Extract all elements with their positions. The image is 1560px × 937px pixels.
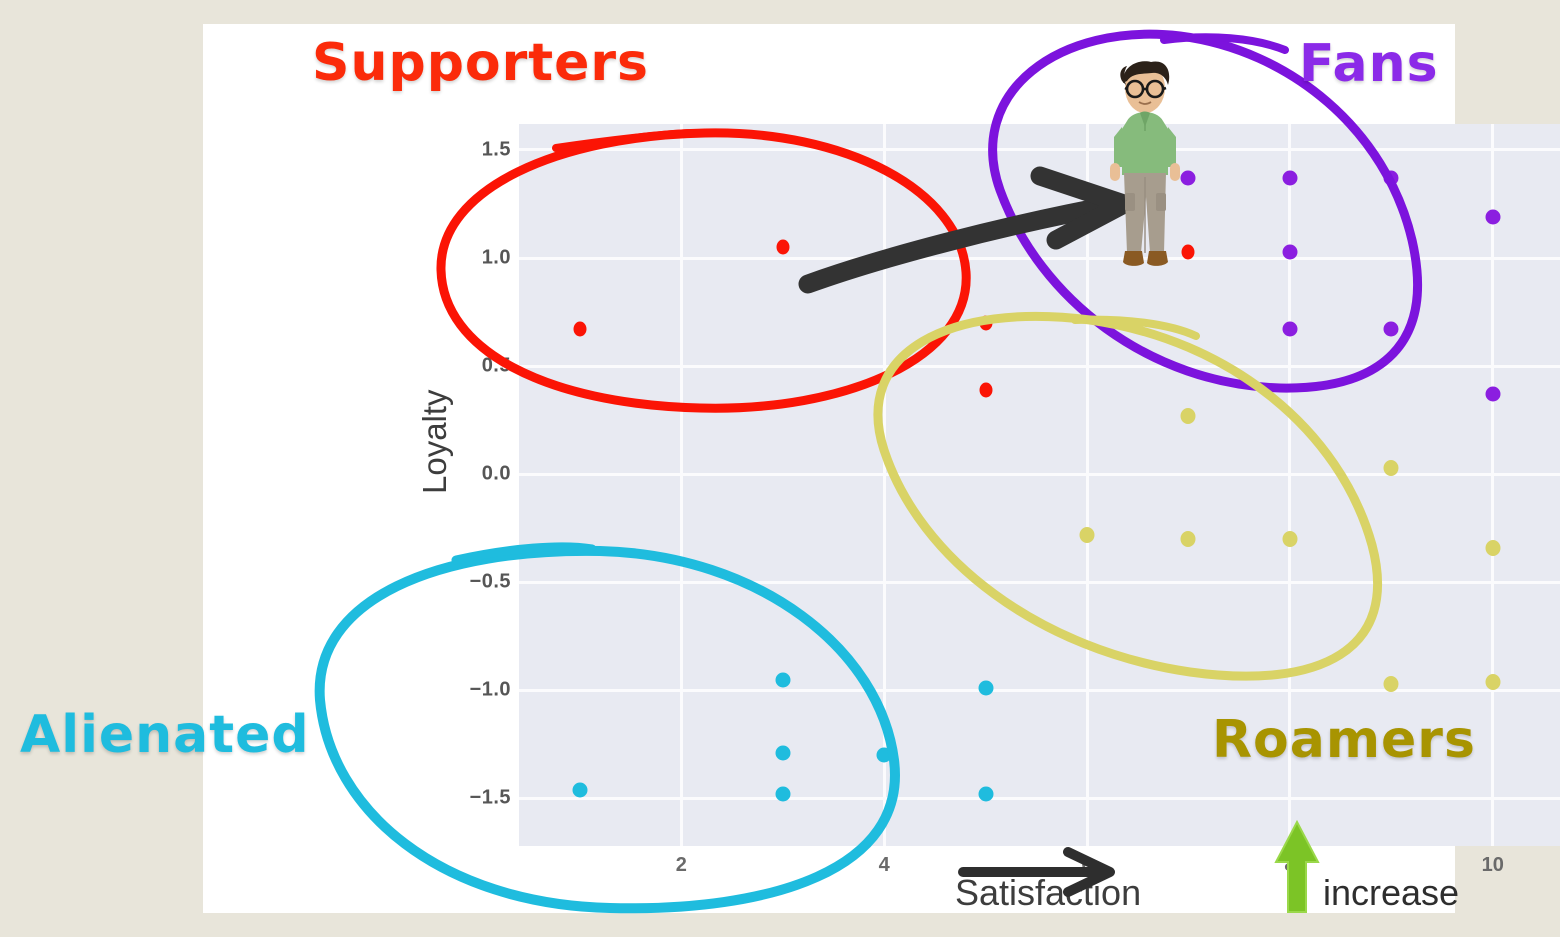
data-point-fans [1282,244,1297,259]
gridline-horizontal [519,797,1560,800]
y-axis-ticks: 1.51.00.50.0−0.5−1.0−1.5 [449,124,511,846]
data-point-roamers [1181,531,1196,547]
data-point-alienated [572,782,587,797]
y-tick-label: 1.5 [482,138,511,161]
data-point-supporters [979,315,992,330]
avatar-pants [1124,173,1166,253]
data-point-alienated [775,672,790,687]
data-point-fans [1384,322,1399,337]
avatar-shirt [1110,112,1180,182]
data-point-roamers [1181,408,1196,424]
data-point-alienated [775,787,790,802]
cluster-label-fans: Fans [1299,34,1439,94]
y-tick-label: −0.5 [470,571,511,594]
data-point-roamers [1384,460,1399,476]
data-point-alienated [775,746,790,761]
data-point-fans [1384,171,1399,186]
data-point-fans [1485,387,1500,402]
data-point-roamers [1384,676,1399,692]
data-point-alienated [978,681,993,696]
cluster-label-supporters: Supporters [312,33,649,93]
data-point-roamers [1080,527,1095,543]
x-tick-label: 4 [879,854,890,877]
gridline-vertical [680,124,683,846]
avatar-head [1120,61,1169,113]
y-axis-label: Loyalty [416,389,454,494]
gridline-horizontal [519,365,1560,368]
data-point-roamers [1485,674,1500,690]
x-tick-label: 2 [676,854,687,877]
y-tick-label: −1.0 [470,679,511,702]
slide-root: 1.51.00.50.0−0.5−1.0−1.5 246810 Loyalty … [0,0,1560,913]
data-point-roamers [1282,531,1297,547]
data-point-alienated [978,787,993,802]
data-point-alienated [877,748,892,763]
data-point-fans [1485,209,1500,224]
gridline-horizontal [519,473,1560,476]
slide-canvas: 1.51.00.50.0−0.5−1.0−1.5 246810 Loyalty … [203,24,1455,913]
data-point-supporters [573,322,586,337]
data-point-fans [1282,171,1297,186]
y-tick-label: 0.0 [482,463,511,486]
x-tick-label: 10 [1482,854,1504,877]
data-point-roamers [1485,540,1500,556]
cluster-label-alienated: Alienated [20,705,310,765]
y-tick-label: 0.5 [482,355,511,378]
x-axis-label: Satisfaction [955,872,1141,914]
cluster-label-roamers: Roamers [1212,710,1476,770]
increase-annotation-label: increase [1323,872,1459,914]
gridline-vertical [883,124,886,846]
y-tick-label: 1.0 [482,247,511,270]
gridline-horizontal [519,148,1560,151]
x-tick-label: 8 [1284,854,1295,877]
customer-avatar [1096,57,1194,273]
data-point-fans [1282,322,1297,337]
gridline-horizontal [519,581,1560,584]
gridline-vertical [1086,124,1089,846]
data-point-supporters [979,382,992,397]
avatar-shoes [1123,251,1168,266]
gridline-vertical [1491,124,1494,846]
data-point-supporters [776,240,789,255]
gridline-horizontal [519,689,1560,692]
gridline-horizontal [519,257,1560,260]
y-tick-label: −1.5 [470,787,511,810]
